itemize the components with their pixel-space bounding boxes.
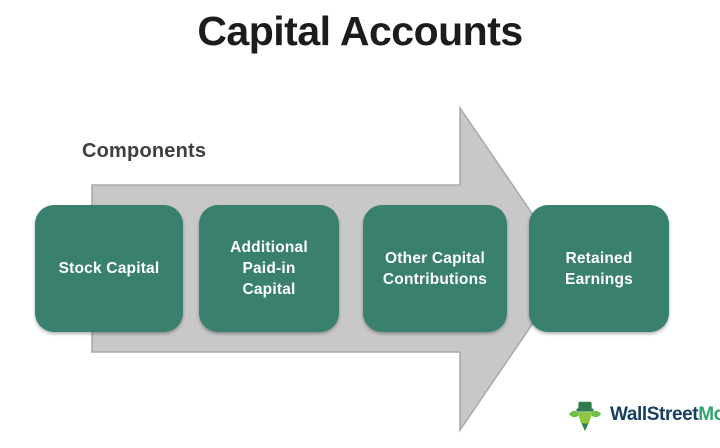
- component-card-retained-earnings[interactable]: Retained Earnings: [529, 205, 669, 332]
- component-card-label: Other Capital Contributions: [383, 248, 487, 290]
- component-card-other-contributions[interactable]: Other Capital Contributions: [363, 205, 507, 332]
- wallstreetmojo-wordmark: WallStreetMojo: [610, 404, 720, 426]
- page-title: Capital Accounts: [0, 6, 720, 56]
- component-card-label: Stock Capital: [59, 258, 160, 279]
- components-label: Components: [82, 140, 206, 163]
- component-card-label: Additional Paid-in Capital: [230, 237, 308, 300]
- wallstreetmojo-logo: WallStreetMojo: [566, 396, 720, 434]
- component-card-stock-capital[interactable]: Stock Capital: [35, 205, 183, 332]
- wallstreetmojo-bull-icon: [566, 396, 604, 434]
- diagram-canvas: Capital Accounts Components Stock Capita…: [0, 0, 720, 448]
- logo-word-wallstreet: WallStreet: [610, 404, 698, 425]
- component-card-label: Retained Earnings: [565, 248, 633, 290]
- logo-word-mojo: Mojo: [698, 404, 720, 425]
- component-card-additional-paid-in[interactable]: Additional Paid-in Capital: [199, 205, 339, 332]
